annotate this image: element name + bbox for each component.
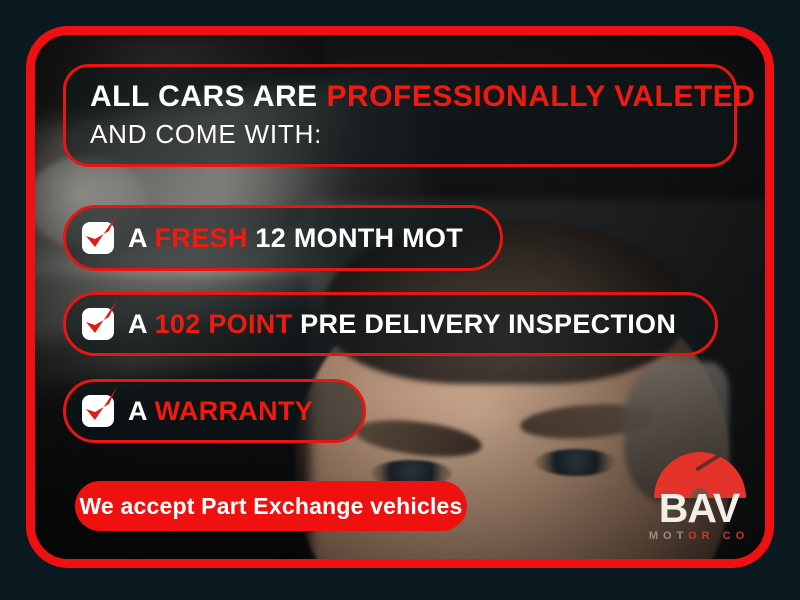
- checklist-item-mot: A FRESH 12 MONTH MOT: [63, 205, 503, 271]
- checklist-item-inspection: A 102 POINT PRE DELIVERY INSPECTION: [63, 292, 718, 356]
- headline-line-1: ALL CARS ARE PROFESSIONALLY VALETED: [90, 81, 755, 113]
- logo-sub-left: MOT: [649, 530, 688, 542]
- checklist-item-1-text: A FRESH 12 MONTH MOT: [128, 223, 463, 254]
- logo-subtext: MOTOR CO: [636, 530, 762, 542]
- checklist-item-warranty: A WARRANTY: [63, 379, 366, 443]
- item-1-highlight: FRESH: [155, 223, 248, 253]
- part-exchange-label: We accept Part Exchange vehicles: [79, 493, 462, 520]
- headline-white-text: ALL CARS ARE: [90, 80, 327, 113]
- item-2-suffix: PRE DELIVERY INSPECTION: [292, 309, 676, 339]
- advert-canvas: ALL CARS ARE PROFESSIONALLY VALETED AND …: [0, 0, 800, 600]
- headline-red-text: PROFESSIONALLY VALETED: [327, 80, 756, 113]
- item-3-prefix: A: [128, 396, 155, 426]
- item-1-prefix: A: [128, 223, 155, 253]
- headline-box: ALL CARS ARE PROFESSIONALLY VALETED AND …: [63, 64, 737, 167]
- item-1-suffix: 12 MONTH MOT: [248, 223, 463, 253]
- checkbox-checked-icon: [82, 222, 114, 254]
- checklist-item-2-text: A 102 POINT PRE DELIVERY INSPECTION: [128, 309, 676, 340]
- headline-line-2: AND COME WITH:: [90, 118, 322, 151]
- logo-wordmark: BAV: [636, 488, 762, 529]
- checklist-item-3-text: A WARRANTY: [128, 396, 313, 427]
- checkbox-checked-icon: [82, 308, 114, 340]
- part-exchange-banner: We accept Part Exchange vehicles: [75, 481, 467, 531]
- bav-logo: BAV MOTOR CO: [636, 452, 762, 552]
- item-2-highlight: 102 POINT: [155, 309, 293, 339]
- item-2-prefix: A: [128, 309, 155, 339]
- checkbox-checked-icon: [82, 395, 114, 427]
- logo-sub-right: OR CO: [688, 530, 749, 542]
- item-3-highlight: WARRANTY: [155, 396, 313, 426]
